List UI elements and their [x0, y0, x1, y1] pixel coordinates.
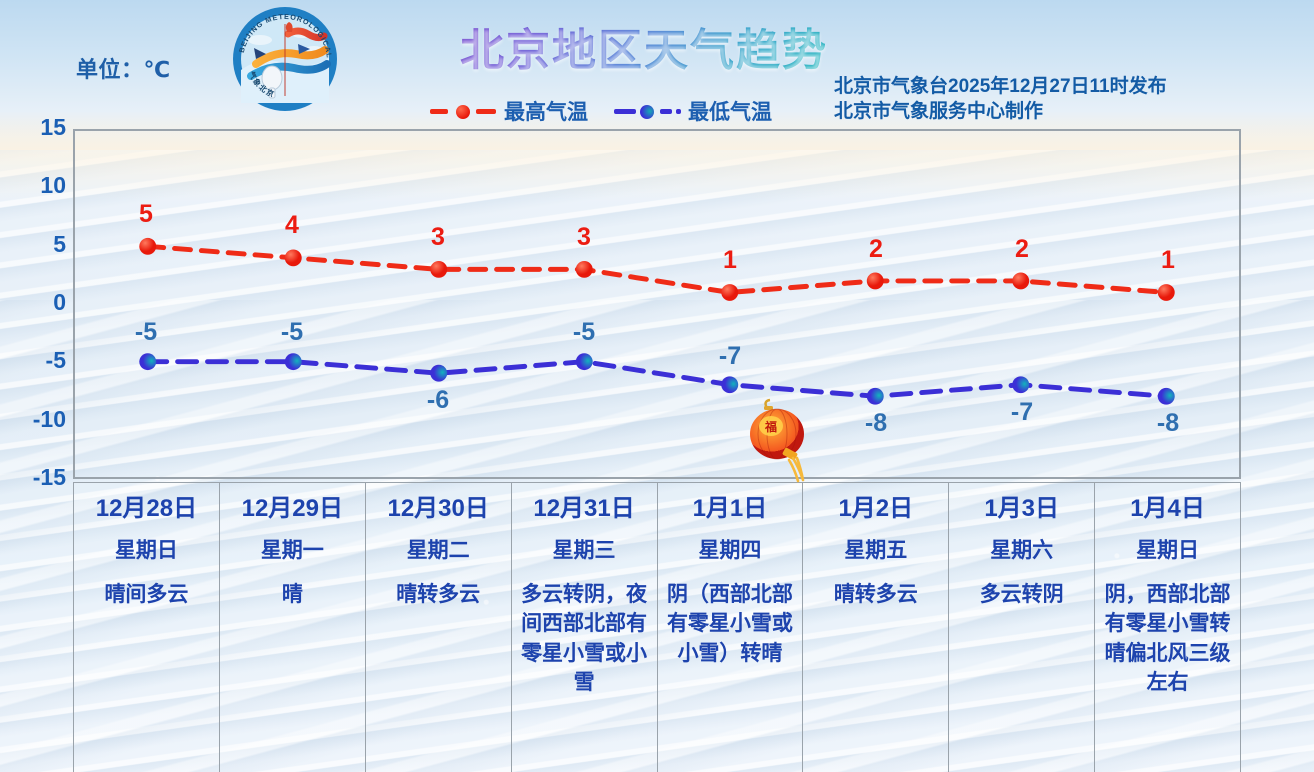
y-axis-ticks: 151050-5-10-15: [0, 129, 66, 479]
unit-label: 单位：℃: [76, 52, 171, 84]
high-temp-point[interactable]: [576, 261, 593, 278]
high-temp-value-label: 2: [1015, 235, 1029, 264]
temperature-trend-chart: [73, 129, 1241, 479]
low-temp-value-label: -5: [135, 318, 157, 347]
y-axis-tick-label: -5: [8, 347, 66, 374]
low-temp-point[interactable]: [285, 353, 302, 370]
forecast-weather-description: 多云转阴: [955, 580, 1088, 609]
forecast-date: 1月4日: [1101, 493, 1234, 525]
high-temp-point[interactable]: [867, 273, 884, 290]
publisher-release-line: 北京市气象台2025年12月27日11时发布: [834, 74, 1167, 99]
low-temp-line: [148, 362, 1167, 397]
high-temp-value-label: 3: [431, 223, 445, 252]
forecast-weekday: 星期二: [372, 537, 505, 565]
y-axis-tick-label: -15: [8, 464, 66, 491]
forecast-weekday: 星期日: [80, 537, 213, 565]
forecast-column[interactable]: 12月31日星期三多云转阴，夜间西部北部有零星小雪或小雪: [512, 483, 658, 772]
forecast-weather-description: 晴转多云: [809, 580, 942, 609]
forecast-column[interactable]: 1月3日星期六多云转阴: [949, 483, 1095, 772]
low-temp-value-label: -5: [281, 318, 303, 347]
forecast-weather-description: 晴间多云: [80, 580, 213, 609]
legend-swatch-low-icon: [614, 104, 680, 118]
forecast-column[interactable]: 1月1日星期四阴（西部北部有零星小雪或小雪）转晴: [658, 483, 804, 772]
high-temp-value-label: 1: [723, 246, 737, 275]
forecast-date: 12月31日: [518, 493, 651, 525]
high-temp-line: [148, 246, 1167, 292]
forecast-weekday: 星期一: [226, 537, 359, 565]
forecast-weather-description: 多云转阴，夜间西部北部有零星小雪或小雪: [518, 580, 651, 698]
high-temp-point[interactable]: [1158, 284, 1175, 301]
low-temp-value-label: -8: [865, 409, 887, 438]
low-temp-value-label: -7: [719, 342, 741, 371]
legend-label-high: 最高气温: [504, 96, 588, 126]
forecast-weather-description: 晴: [226, 580, 359, 609]
forecast-weather-description: 晴转多云: [372, 580, 505, 609]
high-temp-value-label: 1: [1161, 246, 1175, 275]
forecast-weekday: 星期五: [809, 537, 942, 565]
high-temp-point[interactable]: [285, 249, 302, 266]
high-temp-point[interactable]: [430, 261, 447, 278]
y-axis-tick-label: 10: [8, 172, 66, 199]
low-temp-value-label: -5: [573, 318, 595, 347]
lantern-fu-character: 福: [764, 419, 777, 434]
publisher-producer-line: 北京市气象服务中心制作: [834, 99, 1167, 124]
low-temp-value-label: -8: [1157, 409, 1179, 438]
low-temp-value-label: -6: [427, 386, 449, 415]
y-axis-tick-label: 5: [8, 231, 66, 258]
legend-label-low: 最低气温: [688, 96, 772, 126]
low-temp-point[interactable]: [721, 376, 738, 393]
low-temp-value-label: -7: [1011, 398, 1033, 427]
forecast-column[interactable]: 12月28日星期日晴间多云: [73, 483, 220, 772]
legend-item-low: 最低气温: [614, 96, 772, 126]
high-temp-value-label: 2: [869, 235, 883, 264]
low-temp-point[interactable]: [1158, 388, 1175, 405]
forecast-date: 12月29日: [226, 493, 359, 525]
forecast-weather-description: 阴（西部北部有零星小雪或小雪）转晴: [664, 580, 797, 668]
forecast-column[interactable]: 1月4日星期日阴，西部北部有零星小雪转晴偏北风三级左右: [1095, 483, 1241, 772]
forecast-date: 12月28日: [80, 493, 213, 525]
high-temp-point[interactable]: [1012, 273, 1029, 290]
forecast-date: 1月1日: [664, 493, 797, 525]
high-temp-value-label: 4: [285, 211, 299, 240]
high-temp-value-label: 3: [577, 223, 591, 252]
forecast-date: 1月2日: [809, 493, 942, 525]
chart-legend: 最高气温 最低气温: [430, 96, 772, 126]
page-title: 北京地区天气趋势: [460, 14, 828, 78]
chinese-lantern-decoration-icon: 福: [737, 398, 823, 488]
legend-swatch-high-icon: [430, 104, 496, 118]
forecast-weather-description: 阴，西部北部有零星小雪转晴偏北风三级左右: [1101, 580, 1234, 698]
y-axis-tick-label: -10: [8, 406, 66, 433]
legend-item-high: 最高气温: [430, 96, 588, 126]
publisher-info: 北京市气象台2025年12月27日11时发布 北京市气象服务中心制作: [834, 74, 1167, 124]
high-temp-point[interactable]: [139, 238, 156, 255]
low-temp-point[interactable]: [867, 388, 884, 405]
forecast-table: 12月28日星期日晴间多云12月29日星期一晴12月30日星期二晴转多云12月3…: [73, 482, 1241, 772]
y-axis-tick-label: 15: [8, 114, 66, 141]
low-temp-point[interactable]: [430, 365, 447, 382]
high-temp-value-label: 5: [139, 200, 153, 229]
y-axis-tick-label: 0: [8, 289, 66, 316]
forecast-column[interactable]: 12月30日星期二晴转多云: [366, 483, 512, 772]
high-temp-point[interactable]: [721, 284, 738, 301]
forecast-weekday: 星期日: [1101, 537, 1234, 565]
low-temp-point[interactable]: [1012, 376, 1029, 393]
forecast-date: 12月30日: [372, 493, 505, 525]
forecast-weekday: 星期六: [955, 537, 1088, 565]
forecast-weekday: 星期四: [664, 537, 797, 565]
chart-canvas: [75, 131, 1239, 477]
beijing-meteorological-service-logo-icon: BEIJING METEOROLOGICAL SERVICE 气象北京: [232, 6, 338, 112]
forecast-weekday: 星期三: [518, 537, 651, 565]
low-temp-point[interactable]: [139, 353, 156, 370]
forecast-column[interactable]: 1月2日星期五晴转多云: [803, 483, 949, 772]
low-temp-point[interactable]: [576, 353, 593, 370]
forecast-date: 1月3日: [955, 493, 1088, 525]
forecast-column[interactable]: 12月29日星期一晴: [220, 483, 366, 772]
